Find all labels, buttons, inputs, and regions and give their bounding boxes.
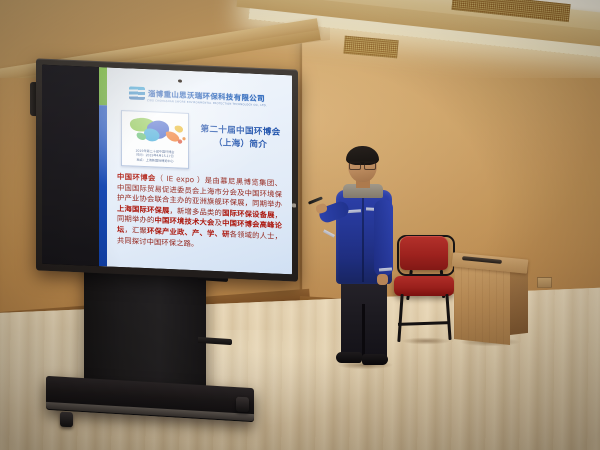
company-logo-icon [129,86,145,100]
wall-outlet-icon [537,277,552,288]
chair-seat [394,276,454,296]
presenter-leg-split [362,304,365,358]
display-assembly[interactable]: 淄博重山思沃瑞环保科技有限公司 ZIBO CHONGSHAN SWORE ENV… [22,52,322,412]
presenter-shoe-right [362,354,388,365]
china-map-graphic-icon [122,112,188,151]
chair-backrest [400,236,448,270]
podium-side-panel [509,263,528,335]
presenter-hand-right [377,274,388,285]
power-led-icon [292,203,296,207]
glasses-icon [349,161,376,168]
ceiling-vent-small-icon [343,36,398,59]
room-photo-scene: 淄博重山思沃瑞环保科技有限公司 ZIBO CHONGSHAN SWORE ENV… [0,0,600,450]
chair-leg-front-right [445,294,451,340]
caster-wheel-left-icon[interactable] [60,412,73,428]
presenter-cuff-stripe-left [323,229,335,237]
figure-caption: 2019年第二十届中国环博会时间：2019年4月15-17日地点：上海新国际博览… [124,148,186,164]
presenter-jacket-zipper [362,194,364,282]
wooden-podium[interactable] [452,256,528,348]
letterbox-bar [42,65,99,266]
chair-leg-front-left [397,294,403,342]
presenter-arm-right [374,200,393,276]
display-bezel: 淄博重山思沃瑞环保科技有限公司 ZIBO CHONGSHAN SWORE ENV… [36,58,298,281]
presenter-shoe-left [336,352,362,363]
slide-title: 第二十届中国环博会（上海）简介 [195,123,286,153]
slide-accent-green [99,67,107,105]
display-screen[interactable]: 淄博重山思沃瑞环保科技有限公司 ZIBO CHONGSHAN SWORE ENV… [42,65,292,275]
figure-box: 2019年第二十届中国环博会时间：2019年4月15-17日地点：上海新国际博览… [121,110,189,169]
slide-accent-blue [99,105,107,266]
podium-front-panel [454,265,510,345]
webcam-dot-icon [178,79,182,82]
presentation-slide[interactable]: 淄博重山思沃瑞环保科技有限公司 ZIBO CHONGSHAN SWORE ENV… [99,67,292,274]
caster-wheel-right-icon[interactable] [236,397,249,413]
red-office-chair[interactable] [392,236,458,346]
slide-body-text: 中国环博会（ IE expo ）是由慕尼黑博览集团、中国国际贸易促进委员会上海市… [117,172,282,253]
chair-cross-rail [398,321,450,325]
